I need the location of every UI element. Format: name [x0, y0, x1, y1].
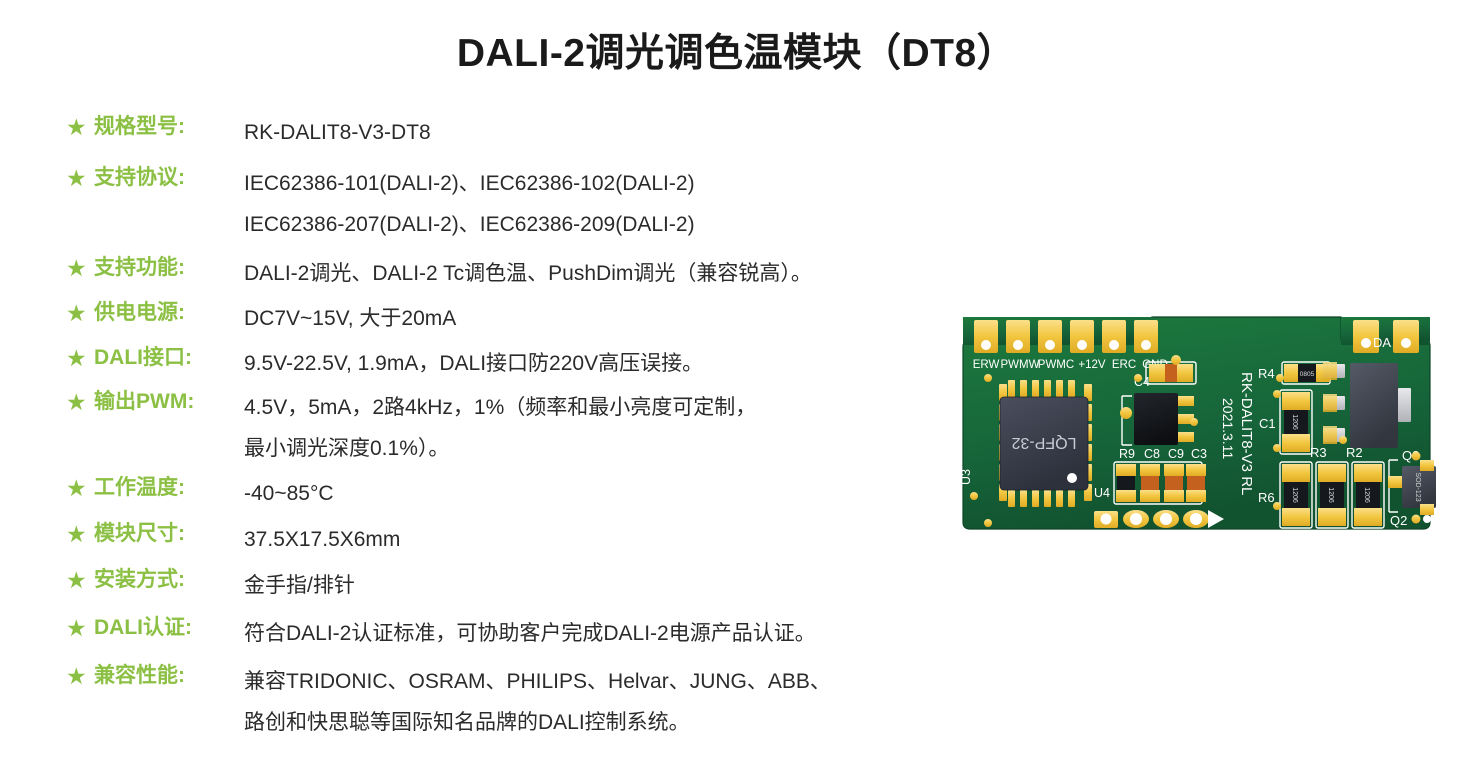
spec-row-protocols: ★ 支持协议: IEC62386-101(DALI-2)、IEC62386-10…: [66, 163, 1026, 245]
pcb-refdes-C1: C1: [1259, 416, 1276, 431]
pcb-module-image: DA ERW PWMW PWMC +12V ERC GND LQFP-32 U: [946, 300, 1446, 550]
pcb-component-code: 1206: [1363, 487, 1370, 503]
pcb-refdes-C9: C9: [1168, 447, 1184, 461]
pcb-component-code: 1206: [1291, 414, 1298, 430]
spec-line: 4.5V，5mA，2路4kHz，1%（频率和最小亮度可定制，: [244, 387, 1026, 428]
spec-value-mounting: 金手指/排针: [244, 565, 1026, 606]
spec-label-functions: 支持功能:: [94, 253, 244, 283]
spec-row-module-size: ★ 模块尺寸: 37.5X17.5X6mm: [66, 519, 1026, 560]
pcb-refdes-R4: R4: [1258, 366, 1275, 381]
pcb-label-DA: DA: [1373, 335, 1391, 350]
pcb-label-mcu: LQFP-32: [1011, 434, 1076, 451]
spec-row-pwm-output: ★ 输出PWM: 4.5V，5mA，2路4kHz，1%（频率和最小亮度可定制， …: [66, 387, 1026, 469]
star-icon: ★: [66, 661, 94, 691]
pcb-refdes-U3: U3: [959, 469, 973, 485]
star-icon: ★: [66, 473, 94, 503]
spec-label-pwm-output: 输出PWM:: [94, 387, 244, 417]
pcb-pin-label: PWMC: [1038, 359, 1074, 371]
spec-value-dali-certification: 符合DALI-2认证标准，可协助客户完成DALI-2电源产品认证。: [244, 613, 1026, 654]
star-icon: ★: [66, 343, 94, 373]
spec-label-operating-temperature: 工作温度:: [94, 473, 244, 503]
pcb-pin-label: ERW: [973, 359, 1000, 371]
pcb-refdes-Q2: Q2: [1390, 513, 1407, 528]
pcb-component-code: SOD-123: [1414, 472, 1421, 501]
pcb-marking-partnumber: RK-DALIT8-V3 RL: [1238, 372, 1255, 495]
spec-row-model: ★ 规格型号: RK-DALIT8-V3-DT8: [66, 112, 1026, 153]
pcb-pin-label: PWMW: [1001, 359, 1040, 371]
spec-label-module-size: 模块尺寸:: [94, 519, 244, 549]
spec-line: 最小调光深度0.1%）。: [244, 428, 1026, 469]
pcb-refdes-R3: R3: [1310, 445, 1327, 460]
pcb-component-code: 1206: [1291, 487, 1298, 503]
pcb-pin-label: ERC: [1112, 359, 1136, 371]
spec-value-functions: DALI-2调光、DALI-2 Tc调色温、PushDim调光（兼容锐高）。: [244, 253, 1026, 294]
spec-line: IEC62386-101(DALI-2)、IEC62386-102(DALI-2…: [244, 163, 1026, 204]
spec-line: DALI-2调光、DALI-2 Tc调色温、PushDim调光（兼容锐高）。: [244, 253, 1026, 294]
star-icon: ★: [66, 613, 94, 643]
pcb-refdes-C3: C3: [1191, 447, 1207, 461]
spec-row-compatibility: ★ 兼容性能: 兼容TRIDONIC、OSRAM、PHILIPS、Helvar、…: [66, 661, 1026, 743]
spec-line: 9.5V-22.5V, 1.9mA，DALI接口防220V高压误接。: [244, 343, 1026, 384]
pcb-refdes-C8: C8: [1144, 447, 1160, 461]
pcb-pin-label: +12V: [1078, 359, 1106, 371]
pcb-marking-date: 2021.3.11: [1220, 398, 1236, 459]
spec-line: 兼容TRIDONIC、OSRAM、PHILIPS、Helvar、JUNG、ABB…: [244, 661, 1026, 702]
spec-row-functions: ★ 支持功能: DALI-2调光、DALI-2 Tc调色温、PushDim调光（…: [66, 253, 1026, 294]
spec-value-module-size: 37.5X17.5X6mm: [244, 519, 1026, 560]
spec-label-power-supply: 供电电源:: [94, 298, 244, 328]
spec-value-power-supply: DC7V~15V, 大于20mA: [244, 298, 1026, 339]
spec-line: RK-DALIT8-V3-DT8: [244, 112, 1026, 153]
spec-row-power-supply: ★ 供电电源: DC7V~15V, 大于20mA: [66, 298, 1026, 339]
spec-label-mounting: 安装方式:: [94, 565, 244, 595]
spec-line: 37.5X17.5X6mm: [244, 519, 1026, 560]
spec-row-dali-interface: ★ DALI接口: 9.5V-22.5V, 1.9mA，DALI接口防220V高…: [66, 343, 1026, 384]
spec-label-model: 规格型号:: [94, 112, 244, 142]
spec-row-mounting: ★ 安装方式: 金手指/排针: [66, 565, 1026, 606]
spec-line: 符合DALI-2认证标准，可协助客户完成DALI-2电源产品认证。: [244, 613, 1026, 654]
spec-value-compatibility: 兼容TRIDONIC、OSRAM、PHILIPS、Helvar、JUNG、ABB…: [244, 661, 1026, 743]
spec-label-dali-certification: DALI认证:: [94, 613, 244, 643]
spec-value-operating-temperature: -40~85°C: [244, 473, 1026, 514]
spec-value-dali-interface: 9.5V-22.5V, 1.9mA，DALI接口防220V高压误接。: [244, 343, 1026, 384]
pcb-refdes-R9: R9: [1119, 447, 1135, 461]
star-icon: ★: [66, 387, 94, 417]
spec-row-operating-temperature: ★ 工作温度: -40~85°C: [66, 473, 1026, 514]
mcu-lqfp32: LQFP-32: [999, 380, 1092, 507]
star-icon: ★: [66, 112, 94, 142]
spec-label-compatibility: 兼容性能:: [94, 661, 244, 691]
pcb-refdes-R6: R6: [1258, 490, 1275, 505]
star-icon: ★: [66, 253, 94, 283]
spec-value-pwm-output: 4.5V，5mA，2路4kHz，1%（频率和最小亮度可定制， 最小调光深度0.1…: [244, 387, 1026, 469]
spec-value-protocols: IEC62386-101(DALI-2)、IEC62386-102(DALI-2…: [244, 163, 1026, 245]
page-title: DALI-2调光调色温模块（DT8）: [0, 22, 1473, 78]
specification-list: ★ 规格型号: RK-DALIT8-V3-DT8 ★ 支持协议: IEC6238…: [66, 112, 1026, 748]
star-icon: ★: [66, 565, 94, 595]
spec-label-dali-interface: DALI接口:: [94, 343, 244, 373]
pcb-component-code: 0805: [1300, 371, 1315, 378]
spec-line: 金手指/排针: [244, 565, 1026, 606]
spec-line: -40~85°C: [244, 473, 1026, 514]
star-icon: ★: [66, 519, 94, 549]
spec-value-model: RK-DALIT8-V3-DT8: [244, 112, 1026, 153]
spec-line: IEC62386-207(DALI-2)、IEC62386-209(DALI-2…: [244, 204, 1026, 245]
spec-row-dali-certification: ★ DALI认证: 符合DALI-2认证标准，可协助客户完成DALI-2电源产品…: [66, 613, 1026, 654]
pcb-refdes-U4: U4: [1094, 486, 1110, 500]
star-icon: ★: [66, 298, 94, 328]
spec-line: DC7V~15V, 大于20mA: [244, 298, 1026, 339]
star-icon: ★: [66, 163, 94, 193]
spec-label-protocols: 支持协议:: [94, 163, 244, 193]
pcb-component-code: 1206: [1327, 487, 1334, 503]
spec-line: 路创和快思聪等国际知名品牌的DALI控制系统。: [244, 702, 1026, 743]
